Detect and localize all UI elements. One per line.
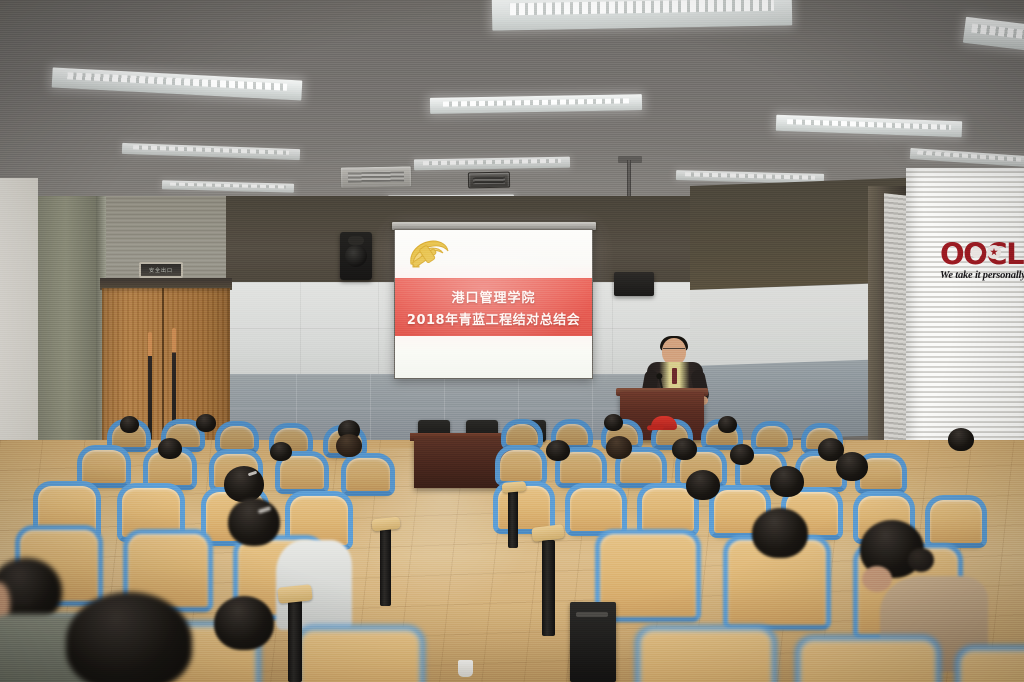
oocl-tagline: We take it personally (940, 270, 1024, 281)
black-folder[interactable] (570, 602, 616, 682)
cpc-hammer-sickle-emblem (403, 234, 455, 276)
auditorium-seat[interactable] (800, 640, 936, 682)
lecture-hall-photo: 安全出口 OOCL We take it personally (0, 0, 1024, 682)
seat-pedestal (380, 528, 391, 606)
auditorium-seat[interactable] (82, 450, 126, 486)
auditorium-seat[interactable] (500, 450, 542, 484)
auditorium-seat[interactable] (960, 650, 1024, 682)
projection-screen: 港口管理学院 2018年青蓝工程结对总结会 (394, 229, 593, 379)
auditorium-seat[interactable] (640, 630, 772, 682)
seat-pedestal (288, 600, 302, 682)
oocl-logo-inner-dot (971, 247, 982, 258)
presenter-tie (672, 368, 677, 384)
red-baseball-cap (651, 416, 677, 430)
auditorium-seat[interactable] (642, 488, 694, 534)
slide-title-line-2: 2018年青蓝工程结对总结会 (407, 309, 580, 328)
auditorium-seat[interactable] (930, 500, 982, 546)
paper-cup[interactable] (458, 660, 473, 677)
auditorium-seat[interactable] (300, 630, 420, 682)
audience-member-hand (862, 566, 892, 592)
auditorium-seat[interactable] (280, 456, 324, 492)
seat-pedestal (542, 540, 555, 636)
ceiling-light-fixture (492, 0, 793, 31)
door-push-bar[interactable] (148, 332, 152, 440)
auditorium-seat[interactable] (800, 456, 842, 490)
auditorium-seat[interactable] (570, 488, 622, 534)
wall-mounted-black-panel (614, 272, 654, 296)
ceiling-air-vent (468, 172, 510, 189)
slide-title-line-1: 港口管理学院 (451, 287, 535, 306)
slide-title-band: 港口管理学院 2018年青蓝工程结对总结会 (395, 278, 592, 336)
auditorium-seat[interactable] (498, 486, 550, 532)
oocl-wordmark: OOCL (940, 240, 1024, 269)
seat-pedestal (508, 490, 518, 548)
seat-armrest (502, 481, 527, 493)
oocl-logo: OOCL We take it personally (940, 240, 1024, 281)
oocl-flower-icon (987, 245, 1001, 259)
exit-sign-label: 安全出口 (144, 267, 178, 273)
slide-lower-area (395, 336, 592, 378)
auditorium-seat[interactable] (756, 426, 788, 450)
slide-upper-area (395, 230, 592, 278)
ceiling-air-vent (340, 165, 412, 188)
presenter-glasses (663, 348, 685, 353)
wall-mounted-loudspeaker (340, 232, 372, 280)
auditorium-seat[interactable] (346, 458, 390, 494)
exit-sign-plaque: 安全出口 (139, 262, 183, 278)
